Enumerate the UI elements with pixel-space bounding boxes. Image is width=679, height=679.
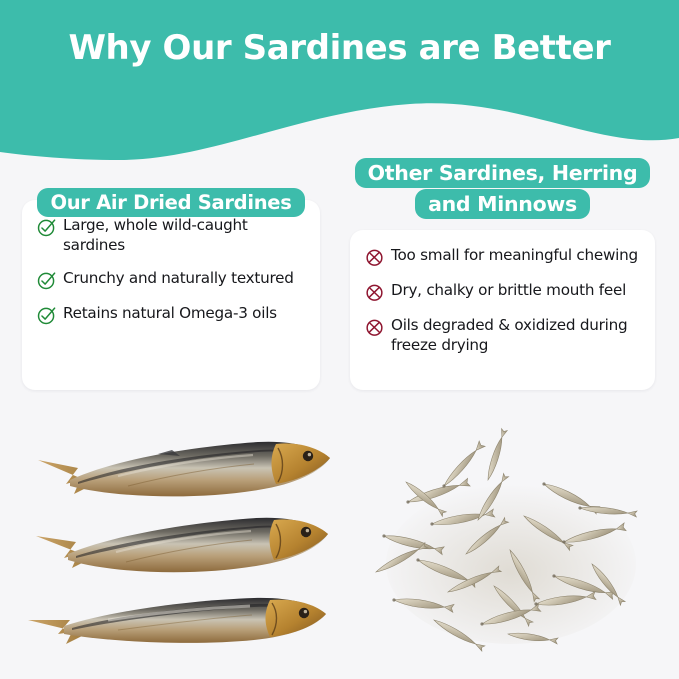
x-circle-icon [364,282,385,303]
product-photos [0,424,679,679]
list-item-label: Too small for meaningful chewing [391,246,638,266]
badge-label: Other Sardines, Herring and Minnows [355,158,651,219]
comparison-columns: Large, whole wild-caught sardines Crunch… [0,164,679,426]
list-item: Oils degraded & oxidized during freeze d… [364,316,641,356]
list-other-sardines: Too small for meaningful chewing Dry, ch… [350,230,655,366]
list-our-sardines: Large, whole wild-caught sardines Crunch… [22,200,320,336]
check-circle-icon [36,305,57,326]
small-dried-minnows-pile-photo [348,424,679,679]
badge-our-sardines: Our Air Dried Sardines [22,188,320,218]
check-circle-icon [36,217,57,238]
infographic-root: Why Our Sardines are Better Large, whole… [0,0,679,679]
check-circle-icon [36,270,57,291]
list-item: Crunchy and naturally textured [36,269,306,291]
list-item: Too small for meaningful chewing [364,246,641,268]
list-item-label: Large, whole wild-caught sardines [63,216,306,256]
badge-other-sardines: Other Sardines, Herring and Minnows [350,158,655,220]
badge-label: Our Air Dried Sardines [37,188,304,217]
list-item-label: Crunchy and naturally textured [63,269,294,289]
list-item: Dry, chalky or brittle mouth feel [364,281,641,303]
header-wave-shape [0,0,679,175]
list-item: Large, whole wild-caught sardines [36,216,306,256]
x-circle-icon [364,317,385,338]
list-item: Retains natural Omega-3 oils [36,304,306,326]
x-circle-icon [364,247,385,268]
sardine-2 [36,518,328,573]
list-item-label: Retains natural Omega-3 oils [63,304,277,324]
page-title: Why Our Sardines are Better [0,28,679,68]
list-item-label: Dry, chalky or brittle mouth feel [391,281,626,301]
sardine-3 [28,598,326,644]
whole-dried-sardines-photo [8,424,348,679]
list-item-label: Oils degraded & oxidized during freeze d… [391,316,641,356]
header-banner: Why Our Sardines are Better [0,0,679,175]
sardine-1 [38,442,330,497]
